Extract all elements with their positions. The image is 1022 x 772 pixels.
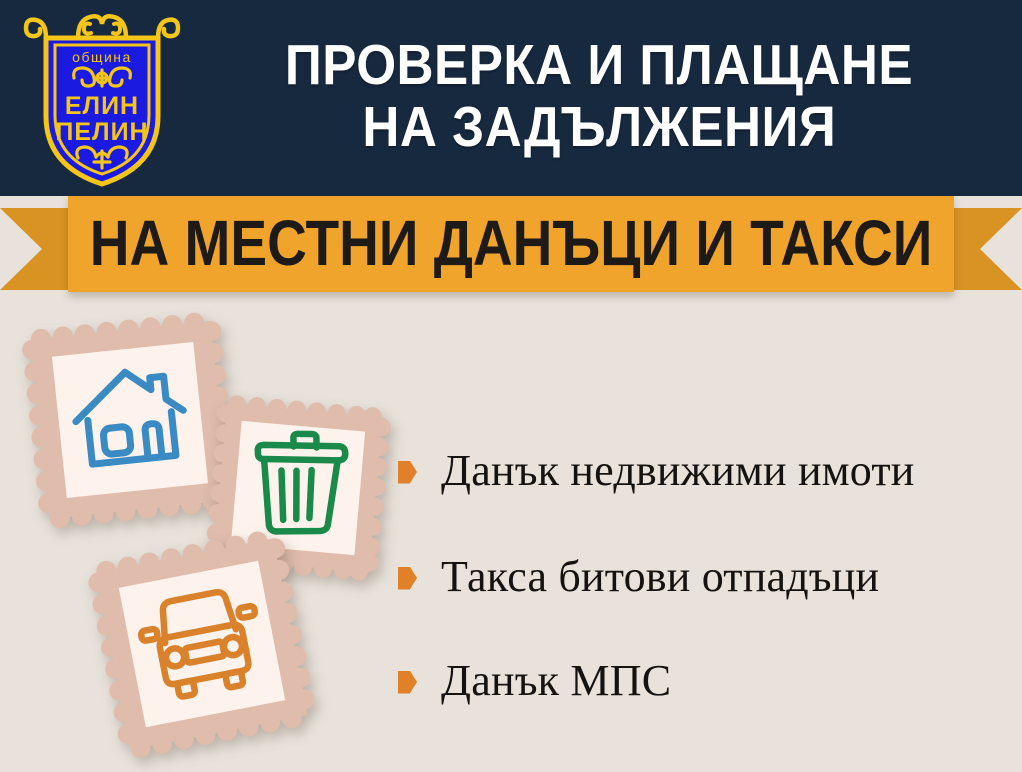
stamp-card-group: [0, 300, 420, 772]
arrow-bullet-icon: [398, 461, 417, 484]
title-line-1: ПРОВЕРКА И ПЛАЩАНЕ: [285, 35, 913, 97]
svg-text:ПЕЛИН: ПЕЛИН: [55, 118, 148, 146]
title-line-2: НА ЗАДЪЛЖЕНИЯ: [362, 97, 836, 159]
subtitle-ribbon: НА МЕСТНИ ДАНЪЦИ И ТАКСИ: [0, 190, 1022, 302]
ribbon-label: НА МЕСТНИ ДАНЪЦИ И ТАКСИ: [130, 194, 892, 292]
page-title: ПРОВЕРКА И ПЛАЩАНЕ НА ЗАДЪЛЖЕНИЯ: [190, 16, 1008, 178]
list-item-label: Данък недвижими имоти: [441, 449, 915, 493]
tax-type-list: Данък недвижими имоти Такса битови отпад…: [398, 425, 1010, 715]
poster-root: община ЕЛИН ПЕЛИН: [0, 0, 1022, 772]
svg-text:ЕЛИН: ЕЛИН: [65, 92, 139, 120]
list-item-label: Такса битови отпадъци: [441, 555, 879, 599]
list-item[interactable]: Данък недвижими имоти: [398, 443, 1010, 499]
header-banner: община ЕЛИН ПЕЛИН: [0, 0, 1022, 196]
list-item-label: Данък МПС: [441, 659, 671, 703]
list-item[interactable]: Данък МПС: [398, 653, 1010, 709]
stamp-card-vehicle: [86, 528, 318, 760]
list-item[interactable]: Такса битови отпадъци: [398, 549, 1010, 605]
arrow-bullet-icon: [398, 671, 417, 694]
svg-text:община: община: [72, 49, 132, 65]
arrow-bullet-icon: [398, 567, 417, 590]
municipality-emblem-icon: община ЕЛИН ПЕЛИН: [22, 8, 182, 190]
